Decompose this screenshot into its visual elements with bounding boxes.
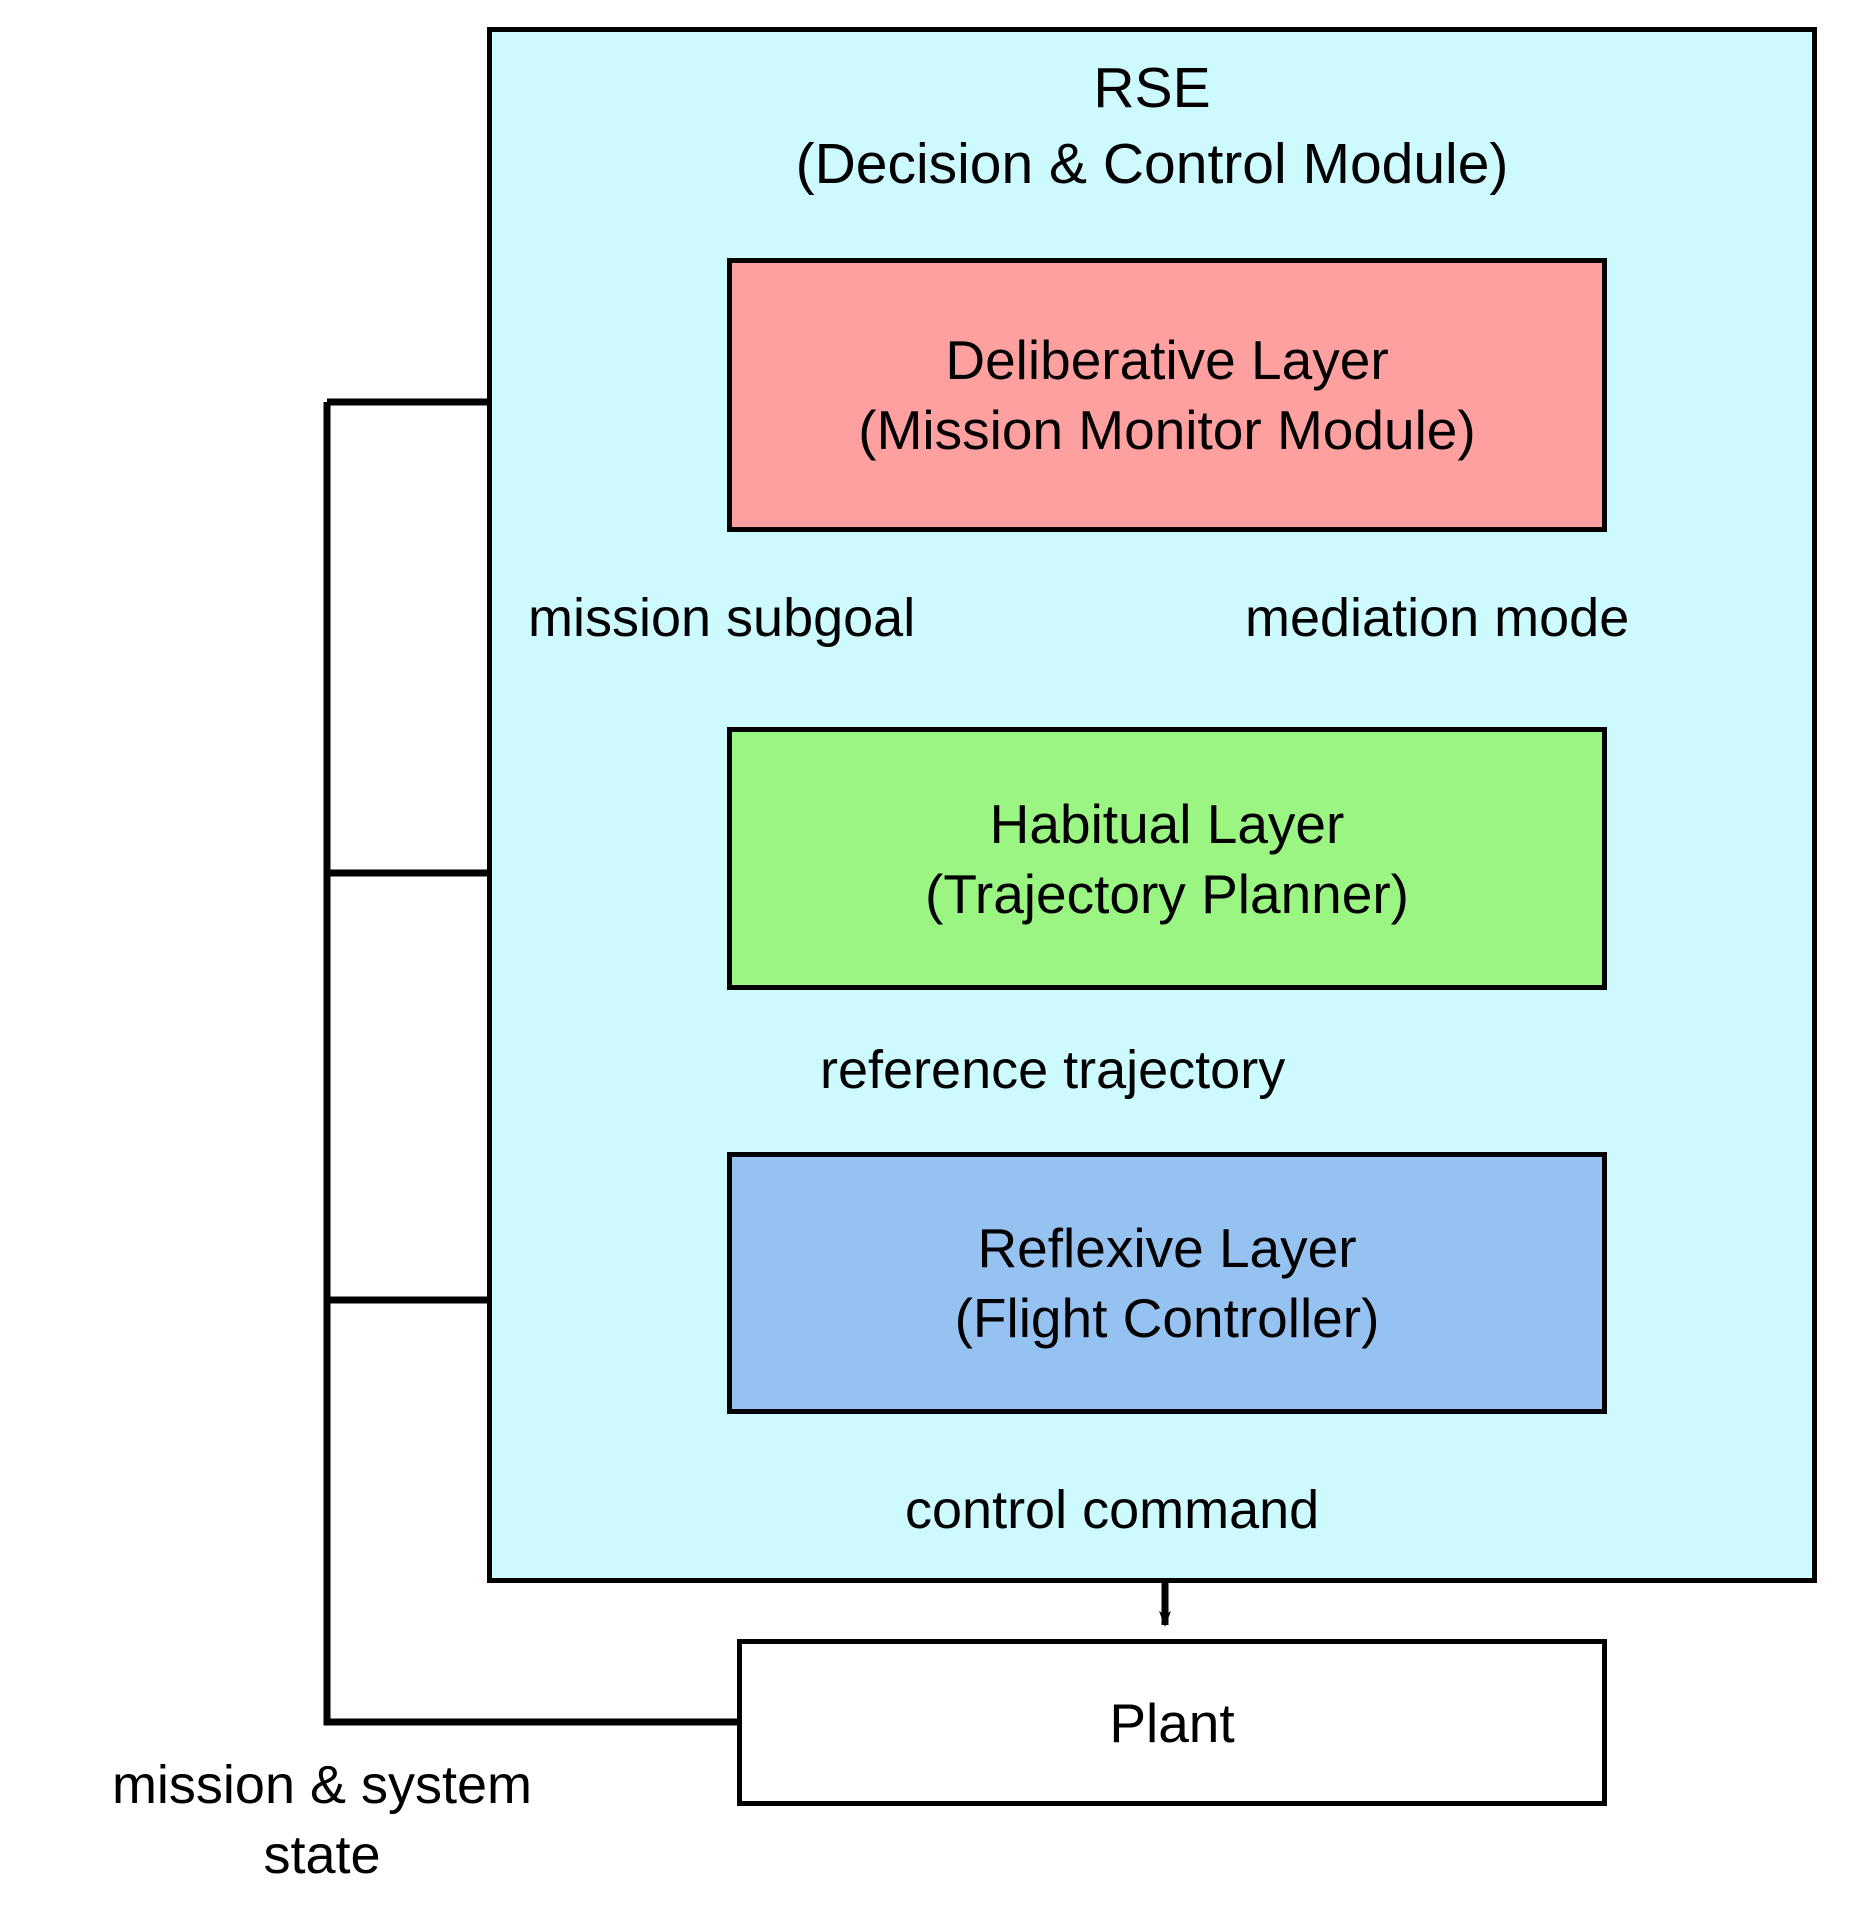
habitual-layer-title: Habitual Layer: [990, 789, 1345, 859]
habitual-layer-box: Habitual Layer (Trajectory Planner): [727, 727, 1607, 990]
rse-title: RSE (Decision & Control Module): [487, 50, 1817, 202]
feedback-label-line1: mission & system: [22, 1750, 622, 1820]
feedback-label-line2: state: [22, 1820, 622, 1890]
habitual-layer-subtitle: (Trajectory Planner): [925, 859, 1409, 929]
reflexive-layer-box: Reflexive Layer (Flight Controller): [727, 1152, 1607, 1414]
rse-title-line2: (Decision & Control Module): [487, 126, 1817, 202]
plant-label: Plant: [1109, 1688, 1234, 1758]
diagram-canvas: RSE (Decision & Control Module) Delibera…: [0, 0, 1859, 1921]
edge-label-control-command: control command: [905, 1480, 1319, 1540]
deliberative-layer-subtitle: (Mission Monitor Module): [858, 395, 1475, 465]
edge-label-mission-system-state: mission & system state: [22, 1750, 622, 1890]
edge-label-mediation-mode: mediation mode: [1245, 588, 1629, 648]
deliberative-layer-box: Deliberative Layer (Mission Monitor Modu…: [727, 258, 1607, 532]
edge-label-mission-subgoal: mission subgoal: [528, 588, 915, 648]
reflexive-layer-subtitle: (Flight Controller): [955, 1283, 1380, 1353]
plant-box: Plant: [737, 1639, 1607, 1806]
edge-label-reference-trajectory: reference trajectory: [820, 1040, 1285, 1100]
rse-title-line1: RSE: [487, 50, 1817, 126]
reflexive-layer-title: Reflexive Layer: [977, 1213, 1356, 1283]
deliberative-layer-title: Deliberative Layer: [945, 325, 1388, 395]
